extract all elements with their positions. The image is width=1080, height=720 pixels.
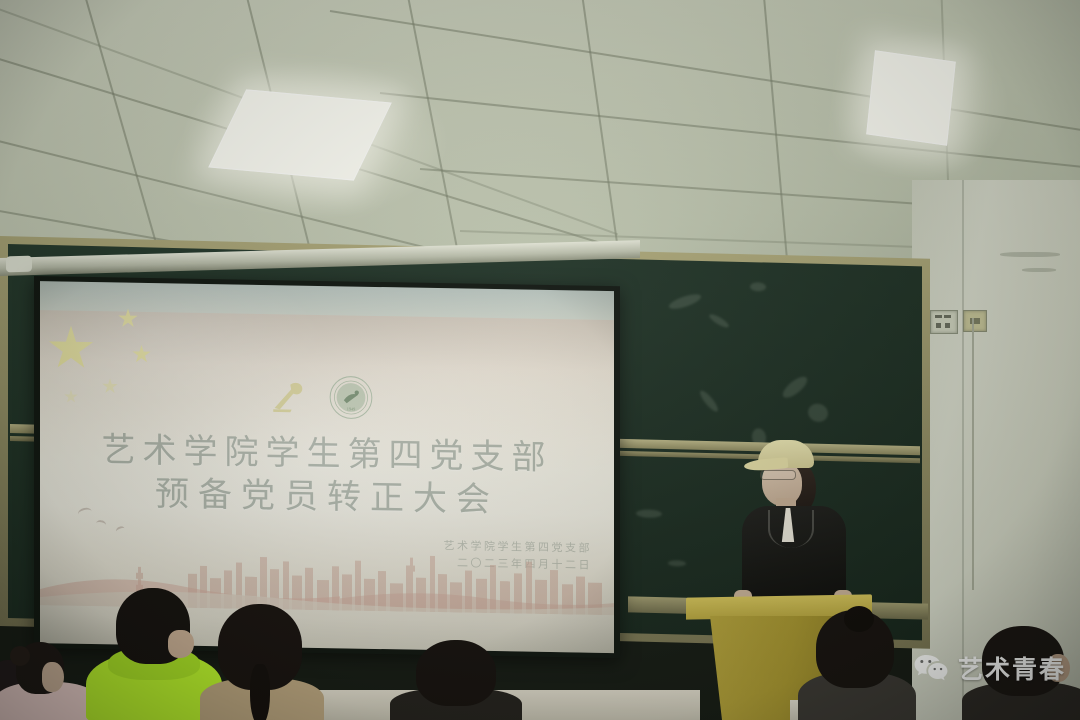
audience-person-5 [798,610,916,720]
ceiling-light-left [208,89,392,180]
person-hair-bun [844,606,874,632]
ceiling-light-right [866,50,956,146]
wall-scuff [1000,252,1060,257]
ceiling-runner-line [399,0,468,268]
bird-icon [95,519,106,529]
party-emblem-icon [268,375,310,418]
wechat-icon [913,653,949,683]
screen-roller-cap [6,256,32,273]
bird-icon [115,525,126,535]
audience-person-4 [390,640,522,720]
audience-person-3 [192,604,328,720]
ceiling-runner-line [77,0,162,260]
person-face [42,662,64,692]
speaker-jacket-zipper [768,510,814,548]
svg-text:1949: 1949 [347,406,356,411]
person-hair-bun [10,646,30,666]
wall-outlet-network[interactable] [963,310,987,332]
person-ponytail [250,664,270,720]
ceiling-grid-line [330,10,1080,134]
glasses-icon [760,470,796,480]
university-seal-icon: 1949 [328,374,374,421]
wall-cable [972,318,974,590]
ceiling-grid-line [380,92,1080,173]
person-head [416,640,496,706]
speaker-person [738,440,848,610]
wall-outlet-power[interactable] [930,310,958,334]
person-ear-cheek [168,630,194,658]
watermark-text: 艺术青春 [958,650,1066,686]
watermark: 艺术青春 [913,650,1066,686]
slide-title: 艺术学院学生第四党支部 预备党员转正大会 [40,429,614,525]
wall-scuff [1022,268,1056,272]
classroom-photo-scene: 1949 艺术学院学生第四党支部 预备党员转正大会 艺术学院学生第四党支部 二〇… [0,0,1080,720]
